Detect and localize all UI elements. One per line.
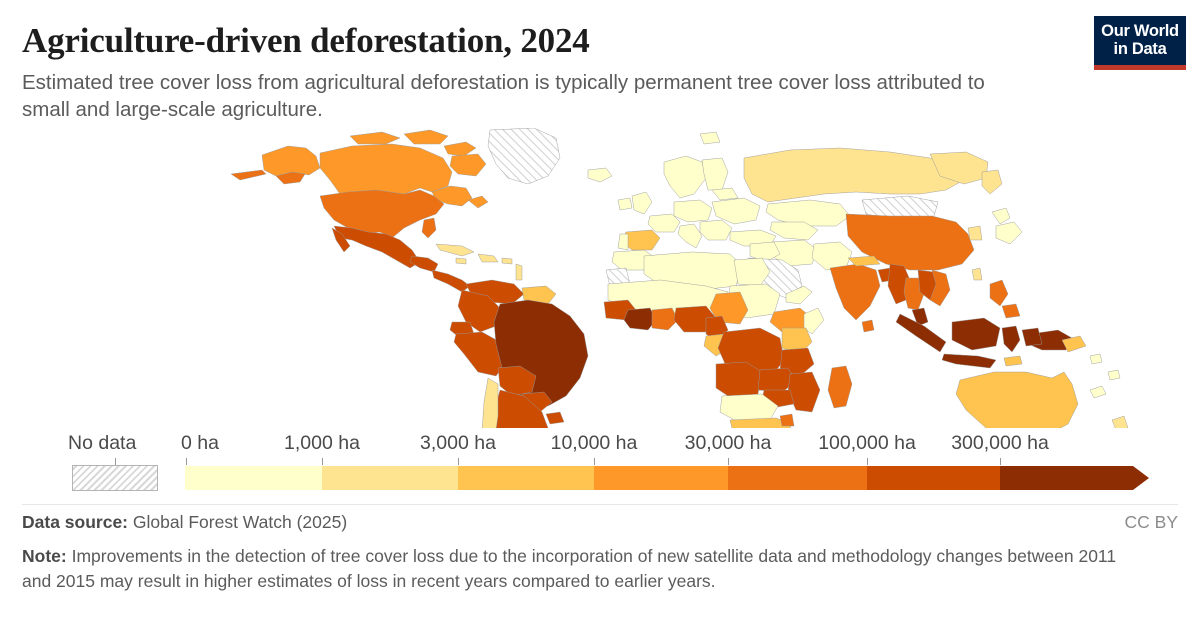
- country-korea[interactable]: [968, 226, 982, 240]
- country-puerto-rico[interactable]: [502, 258, 512, 264]
- legend-bin-30000-100000[interactable]: [728, 466, 867, 490]
- country-new-caledonia[interactable]: [1090, 386, 1106, 398]
- country-philippines-south[interactable]: [1002, 304, 1020, 318]
- country-nicaragua-costarica-panama[interactable]: [432, 270, 470, 292]
- legend-tick-10000: [594, 458, 595, 465]
- country-alaska[interactable]: [262, 146, 320, 176]
- legend-tick-no-data: [115, 458, 116, 465]
- country-cuba[interactable]: [436, 244, 474, 256]
- data-source-label: Data source:: [22, 512, 128, 532]
- chart-footer: Data source: Global Forest Watch (2025) …: [22, 512, 1178, 538]
- note-label: Note:: [22, 546, 67, 566]
- country-canada-baffin[interactable]: [450, 154, 486, 176]
- legend-tick-100000: [867, 458, 868, 465]
- country-madagascar[interactable]: [828, 366, 852, 408]
- country-java[interactable]: [942, 354, 996, 368]
- legend-label-300000: 300,000 ha: [951, 432, 1049, 455]
- map-countries: [231, 128, 1128, 428]
- logo-line-2: in Data: [1114, 41, 1167, 58]
- country-swaziland-lesotho[interactable]: [780, 414, 794, 426]
- legend-label-30000: 30,000 ha: [685, 432, 772, 455]
- legend-label-1000: 1,000 ha: [284, 432, 360, 455]
- country-sulawesi[interactable]: [1002, 326, 1020, 352]
- country-australia[interactable]: [956, 372, 1078, 428]
- country-greenland-no-data[interactable]: [488, 128, 560, 184]
- data-source: Data source: Global Forest Watch (2025): [22, 512, 347, 533]
- country-aleutians[interactable]: [231, 170, 266, 180]
- country-portugal[interactable]: [618, 234, 628, 250]
- legend-label-10000: 10,000 ha: [551, 432, 638, 455]
- country-new-zealand-north[interactable]: [1112, 416, 1128, 428]
- legend-tick-3000: [458, 458, 459, 465]
- country-taiwan[interactable]: [972, 268, 982, 280]
- page-title: Agriculture-driven deforestation, 2024: [22, 16, 1178, 61]
- chart-note: Note: Improvements in the detection of t…: [22, 544, 1142, 594]
- country-chile[interactable]: [482, 378, 498, 428]
- country-india[interactable]: [830, 264, 880, 320]
- footer-divider: [22, 504, 1178, 505]
- country-canada-arctic-3[interactable]: [444, 142, 476, 156]
- legend-label-100000: 100,000 ha: [818, 432, 916, 455]
- legend-bar: [0, 465, 1200, 491]
- country-us-florida[interactable]: [422, 218, 436, 238]
- country-baltics[interactable]: [712, 188, 738, 200]
- country-nepal-bhutan[interactable]: [848, 256, 880, 266]
- country-svalbard[interactable]: [700, 132, 720, 144]
- world-choropleth-map[interactable]: [0, 128, 1200, 428]
- country-pacific-islands-2[interactable]: [1108, 370, 1120, 380]
- legend-bin-10000-30000[interactable]: [594, 466, 728, 490]
- country-finland[interactable]: [702, 158, 728, 190]
- note-value: Improvements in the detection of tree co…: [22, 546, 1116, 591]
- country-japan[interactable]: [992, 208, 1010, 224]
- data-source-value[interactable]: Global Forest Watch (2025): [133, 512, 347, 532]
- legend-bin-300000-plus[interactable]: [1000, 466, 1133, 490]
- source-row: Data source: Global Forest Watch (2025) …: [22, 512, 1178, 538]
- country-lesser-antilles[interactable]: [516, 264, 522, 280]
- chart-header: Agriculture-driven deforestation, 2024 E…: [22, 16, 1178, 128]
- legend-tick-300000: [1000, 458, 1001, 465]
- map-svg: [0, 128, 1200, 428]
- country-norway-sweden[interactable]: [664, 156, 706, 198]
- legend-label-3000: 3,000 ha: [420, 432, 496, 455]
- owid-chart: Agriculture-driven deforestation, 2024 E…: [0, 0, 1200, 627]
- country-jamaica[interactable]: [456, 258, 466, 264]
- country-kamchatka[interactable]: [982, 170, 1002, 194]
- legend-open-ended-arrow: [1133, 466, 1149, 490]
- country-hispaniola[interactable]: [478, 254, 498, 262]
- country-uk[interactable]: [632, 192, 652, 214]
- country-ivory-coast-liberia[interactable]: [624, 308, 656, 330]
- country-guatemala-honduras[interactable]: [410, 256, 438, 272]
- country-uruguay[interactable]: [546, 412, 564, 424]
- owid-logo[interactable]: Our World in Data: [1094, 16, 1186, 70]
- license-cc-by[interactable]: CC BY: [1125, 512, 1178, 533]
- legend-label-row: No data 0 ha 1,000 ha 3,000 ha 10,000 ha…: [0, 432, 1200, 458]
- legend-bin-1000-3000[interactable]: [322, 466, 458, 490]
- legend-gradient: [185, 466, 1149, 490]
- legend-label-0: 0 ha: [181, 432, 219, 455]
- country-germany-poland[interactable]: [674, 200, 712, 222]
- legend-label-no-data: No data: [68, 432, 136, 455]
- legend-tick-1000: [322, 458, 323, 465]
- country-ireland[interactable]: [618, 198, 632, 210]
- country-canada-arctic-1[interactable]: [350, 132, 400, 144]
- logo-line-1: Our World: [1101, 23, 1179, 40]
- legend-swatch-no-data[interactable]: [72, 465, 158, 491]
- country-balkans[interactable]: [700, 220, 732, 240]
- legend-bin-100000-300000[interactable]: [867, 466, 1000, 490]
- country-italy[interactable]: [678, 224, 702, 248]
- country-sri-lanka[interactable]: [862, 320, 874, 332]
- chart-subtitle: Estimated tree cover loss from agricultu…: [22, 61, 1032, 123]
- country-papua-indonesia[interactable]: [1022, 328, 1042, 346]
- country-pacific-islands-1[interactable]: [1090, 354, 1102, 364]
- map-legend: No data 0 ha 1,000 ha 3,000 ha 10,000 ha…: [0, 432, 1200, 498]
- country-mozambique[interactable]: [788, 372, 820, 412]
- legend-tick-30000: [728, 458, 729, 465]
- country-canada-arctic-2[interactable]: [404, 130, 448, 144]
- country-philippines[interactable]: [990, 280, 1008, 306]
- legend-bin-3000-10000[interactable]: [458, 466, 594, 490]
- legend-tick-0: [186, 458, 187, 465]
- country-timor[interactable]: [1004, 356, 1022, 366]
- legend-bin-0-1000[interactable]: [185, 466, 322, 490]
- country-iceland[interactable]: [588, 168, 612, 182]
- country-japan-honshu[interactable]: [996, 222, 1022, 244]
- country-borneo[interactable]: [952, 318, 1000, 350]
